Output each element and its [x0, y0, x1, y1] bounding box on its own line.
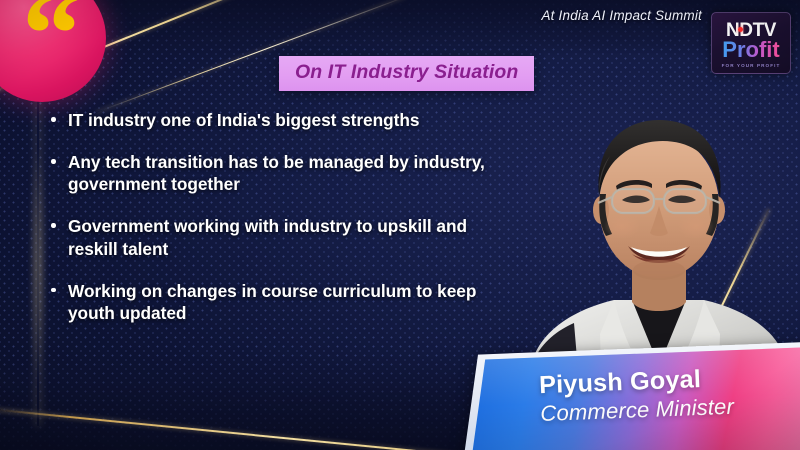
speaker-designation: Commerce Minister [540, 394, 735, 428]
list-item: Working on changes in course curriculum … [48, 280, 518, 324]
ndtv-profit-logo: NDTV Profit FOR YOUR PROFIT [711, 12, 791, 74]
nameplate-text-group: Piyush Goyal Commerce Minister [539, 364, 735, 427]
topic-banner: On IT Industry Situation [279, 56, 534, 91]
topic-label: On IT Industry Situation [295, 61, 518, 84]
event-subtitle: At India AI Impact Summit [541, 8, 702, 23]
list-item: Government working with industry to upsk… [48, 215, 518, 259]
news-graphic-card: “ At India AI Impact Summit NDTV Profit … [0, 0, 800, 450]
logo-brand-text: NDTV [726, 21, 776, 40]
list-item: IT industry one of India's biggest stren… [48, 109, 518, 131]
nameplate: Piyush Goyal Commerce Minister [472, 348, 800, 450]
logo-product-label: Profit [722, 39, 779, 61]
bullet-list: IT industry one of India's biggest stren… [48, 109, 518, 344]
nameplate-panel: Piyush Goyal Commerce Minister [471, 347, 800, 450]
list-item: Any tech transition has to be managed by… [48, 151, 518, 195]
gold-vertical-line [37, 96, 39, 426]
quotation-mark-icon: “ [22, 3, 78, 64]
logo-brand-label: NDTV [726, 20, 776, 41]
speaker-name: Piyush Goyal [539, 364, 734, 399]
logo-tagline: FOR YOUR PROFIT [722, 63, 781, 68]
